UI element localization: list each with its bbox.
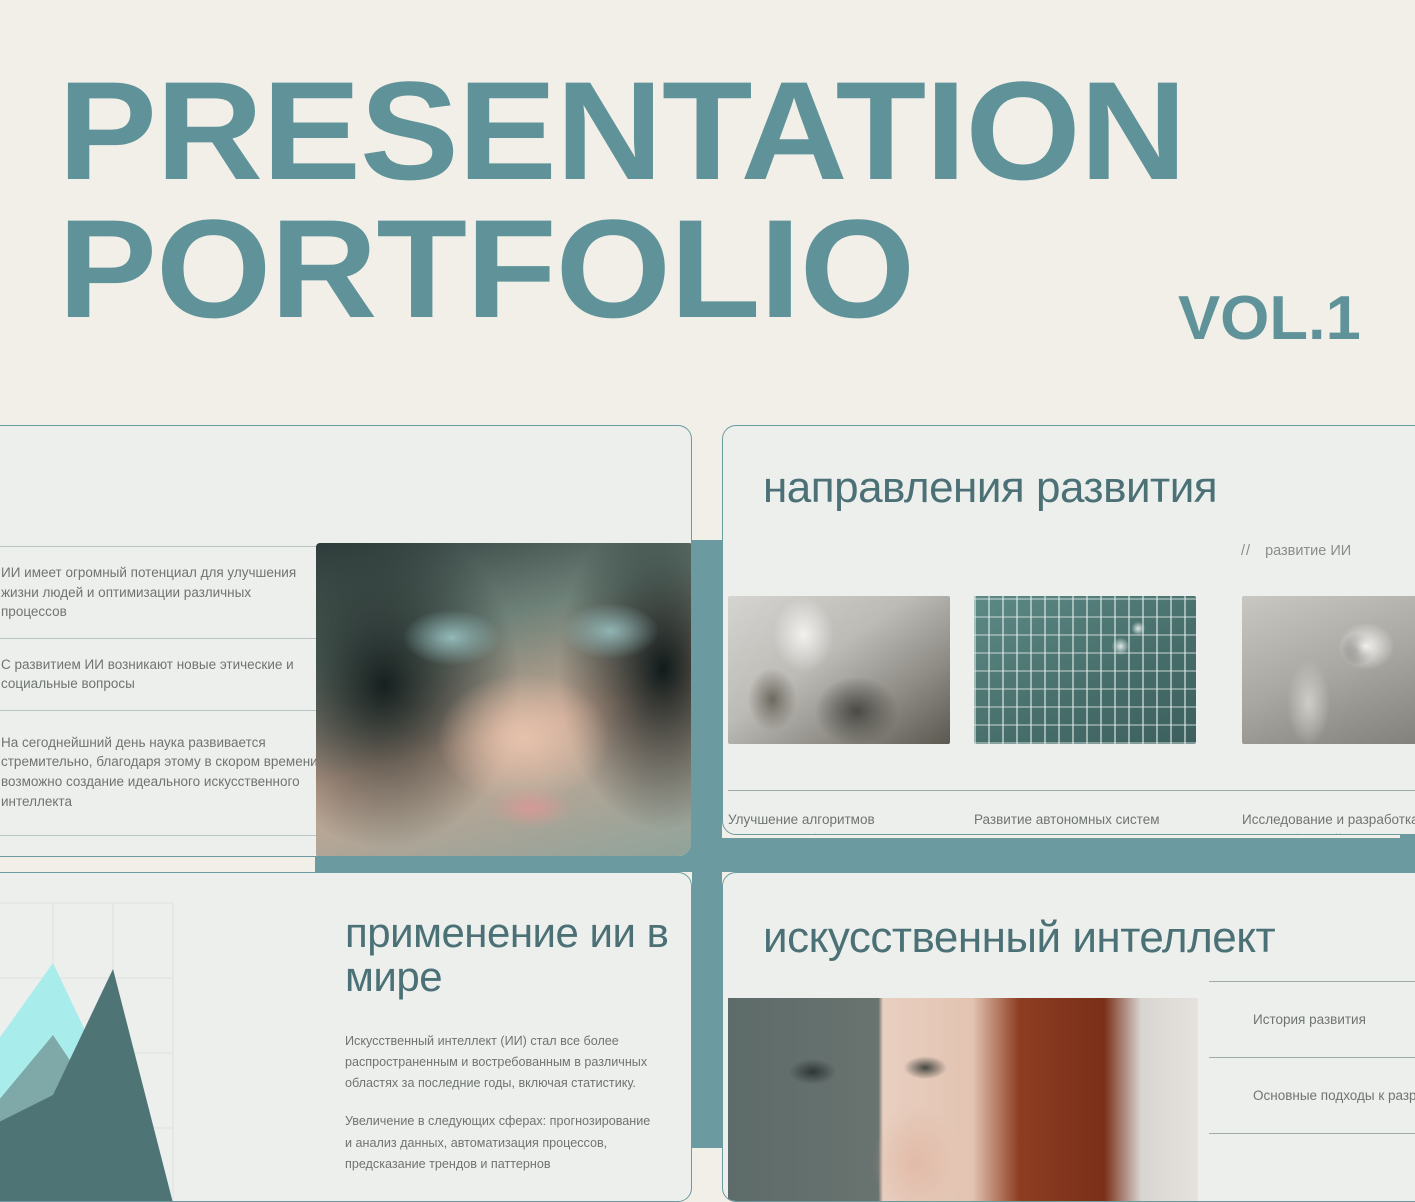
divider	[728, 790, 1415, 791]
teal-band-vertical-gap	[692, 540, 722, 872]
machine-thumbnail-image	[1242, 596, 1415, 744]
ai-topic-list: История развития Основные подходы к разр…	[1209, 981, 1415, 1134]
hero-banner: PRESENTATION PORTFOLIO VOL.1	[0, 0, 1415, 425]
list-item[interactable]: Развитие автономных систем	[974, 596, 1196, 830]
split-face-portrait-image	[728, 998, 1198, 1202]
area-chart-svg	[0, 895, 303, 1202]
area-chart	[0, 895, 303, 1202]
paragraph: Искусственный интеллект (ИИ) стал все бо…	[345, 1031, 655, 1094]
card-usage-title: применение ии в мире	[345, 911, 691, 999]
card-usage[interactable]: применение ии в мире Искусственный интел…	[0, 872, 692, 1202]
hero-title-line2: PORTFOLIO	[58, 210, 914, 328]
list-item: На сегоднейшний день наука развивается с…	[0, 711, 318, 836]
thumbnail-caption: Улучшение алгоритмов машинного обучения	[728, 792, 950, 835]
thumbnail-caption: Исследование и разработка новых областей…	[1242, 792, 1415, 835]
list-item[interactable]: История развития	[1209, 981, 1415, 1058]
card-directions-subtitle: //развитие ИИ	[1241, 543, 1351, 559]
list-item: С развитием ИИ возникают новые этические…	[0, 639, 318, 711]
card-usage-body: Искусственный интеллект (ИИ) стал все бо…	[345, 1031, 655, 1175]
card-directions-title: направления развития	[763, 466, 1217, 511]
card-directions-subtitle-text: развитие ИИ	[1265, 543, 1351, 559]
card-artificial-intelligence[interactable]: искусственный интеллект История развития…	[722, 872, 1415, 1202]
directions-thumbnail-row: Улучшение алгоритмов машинного обучения …	[723, 596, 1415, 835]
conclusions-bullet-list: ИИ имеет огромный потенциал для улучшени…	[0, 546, 318, 836]
circuit-thumbnail-image	[974, 596, 1196, 744]
list-item[interactable]: Улучшение алгоритмов машинного обучения	[728, 596, 950, 835]
robot-thumbnail-image	[728, 596, 950, 744]
paragraph: Увеличение в следующих сферах: прогнозир…	[345, 1111, 655, 1174]
card-ai-title: искусственный интеллект	[763, 913, 1275, 963]
portrait-image	[316, 543, 692, 857]
list-item[interactable]: Исследование и разработка новых областей…	[1242, 596, 1415, 835]
list-item: ИИ имеет огромный потенциал для улучшени…	[0, 546, 318, 639]
thumbnail-caption: Развитие автономных систем	[974, 792, 1196, 830]
hero-volume-label: VOL.1	[1178, 283, 1361, 354]
card-conclusions[interactable]: ВЫВОДЫ //портрет с использованием ИИ ИИ …	[0, 425, 692, 857]
card-directions[interactable]: направления развития //развитие ИИ Улучш…	[722, 425, 1415, 835]
slash-marker-icon: //	[1241, 543, 1251, 559]
hero-title-line1: PRESENTATION	[58, 72, 1186, 190]
list-item[interactable]: Основные подходы к разработке	[1209, 1058, 1415, 1134]
teal-band-vertical-gap-lower	[692, 838, 722, 1148]
